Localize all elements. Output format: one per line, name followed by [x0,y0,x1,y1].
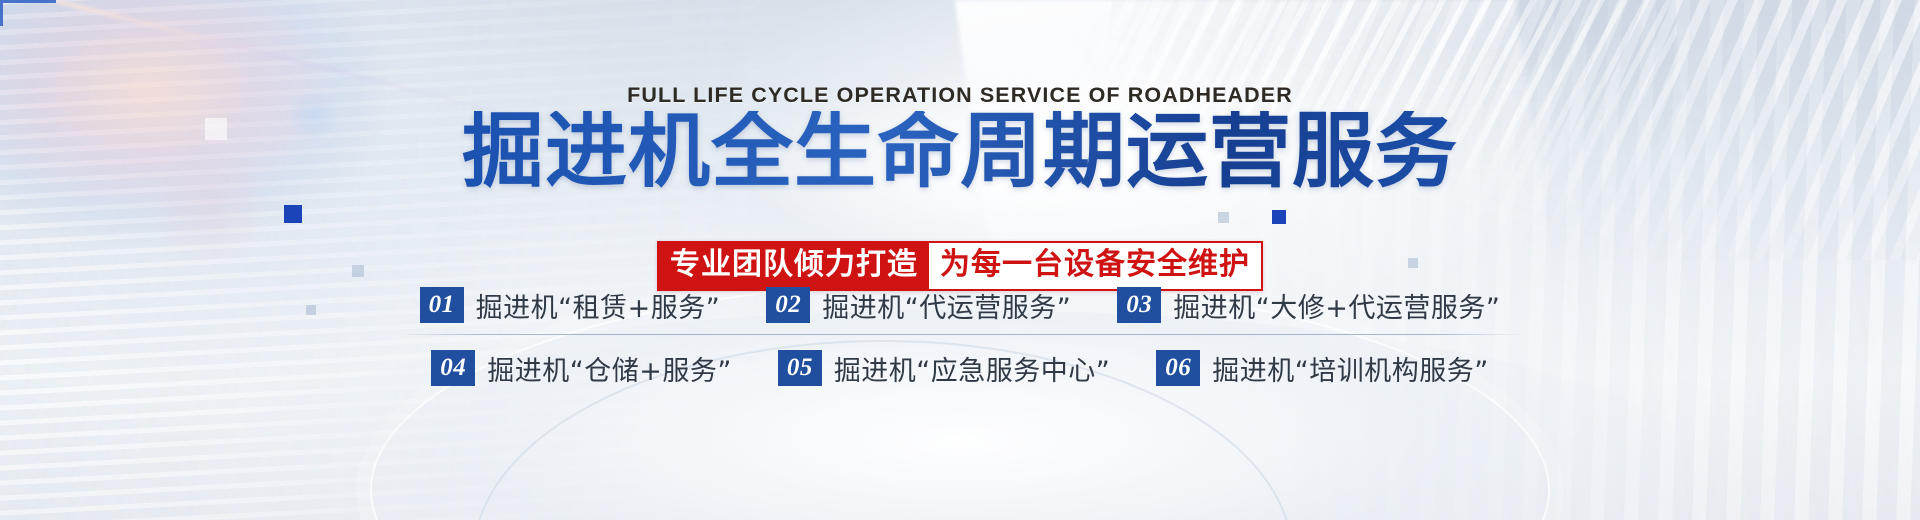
service-list-divider [398,334,1522,335]
service-list: 01 掘进机“租赁+服务” 02 掘进机“代运营服务” 03 掘进机“大修+代运… [0,276,1920,397]
service-label-02: 掘进机“代运营服务” [822,286,1071,325]
service-item-02[interactable]: 02 掘进机“代运营服务” [766,286,1071,325]
service-label-01: 掘进机“租赁+服务” [476,286,721,325]
decor-corner-bracket [0,0,56,26]
service-number-03: 03 [1117,287,1161,323]
service-number-05: 05 [778,350,822,386]
service-number-01: 01 [420,287,464,323]
service-row-1: 01 掘进机“租赁+服务” 02 掘进机“代运营服务” 03 掘进机“大修+代运… [0,276,1920,334]
service-number-06: 06 [1156,350,1200,386]
service-item-01[interactable]: 01 掘进机“租赁+服务” [420,286,721,325]
banner-content: FULL LIFE CYCLE OPERATION SERVICE OF ROA… [0,26,1920,520]
hero-banner: FULL LIFE CYCLE OPERATION SERVICE OF ROA… [0,0,1920,520]
service-item-04[interactable]: 04 掘进机“仓储+服务” [431,349,732,388]
service-label-04: 掘进机“仓储+服务” [487,349,732,388]
service-item-03[interactable]: 03 掘进机“大修+代运营服务” [1117,286,1500,325]
service-label-06: 掘进机“培训机构服务” [1212,349,1488,388]
service-item-05[interactable]: 05 掘进机“应急服务中心” [778,349,1110,388]
service-label-03: 掘进机“大修+代运营服务” [1173,286,1500,325]
service-item-06[interactable]: 06 掘进机“培训机构服务” [1156,349,1488,388]
service-row-2: 04 掘进机“仓储+服务” 05 掘进机“应急服务中心” 06 掘进机“培训机构… [0,339,1920,397]
service-number-02: 02 [766,287,810,323]
banner-headline: 掘进机全生命周期运营服务 [0,111,1920,193]
service-label-05: 掘进机“应急服务中心” [834,349,1110,388]
service-number-04: 04 [431,350,475,386]
